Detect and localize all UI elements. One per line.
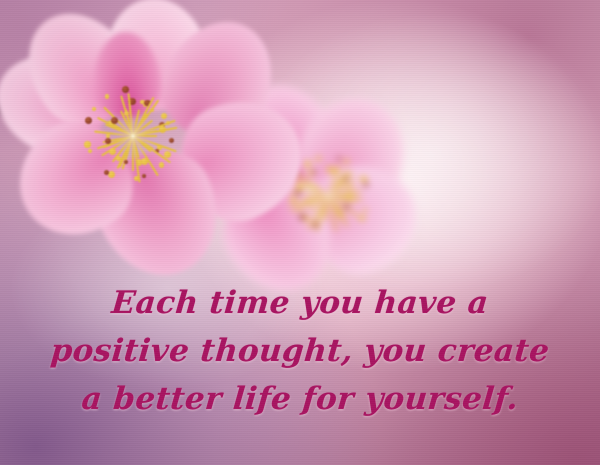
vignette-overlay [0,0,600,465]
quote-image-canvas: Each time you have a positive thought, y… [0,0,600,465]
